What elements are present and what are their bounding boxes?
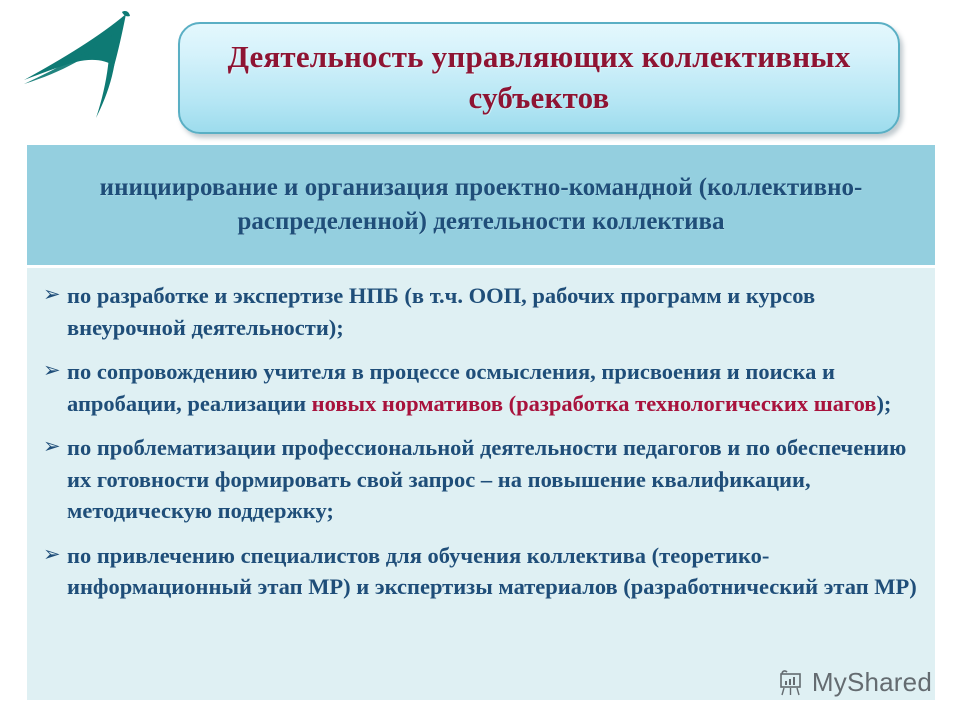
- bullet-text: );: [876, 391, 891, 416]
- slide-body-panel: ➢по разработке и экспертизе НПБ (в т.ч. …: [27, 268, 935, 700]
- teal-swoosh-icon: [22, 8, 177, 128]
- bullet-text: по проблематизации профессиональной деят…: [67, 435, 906, 523]
- bullet-arrow-icon: ➢: [43, 540, 61, 569]
- bullet-arrow-icon: ➢: [43, 280, 61, 309]
- bullet-item: ➢по разработке и экспертизе НПБ (в т.ч. …: [41, 280, 921, 343]
- myshared-watermark: MyShared: [778, 667, 932, 698]
- bullet-item: ➢по привлечению специалистов для обучени…: [41, 540, 921, 603]
- myshared-label: MyShared: [812, 667, 932, 698]
- slide-title-box: Деятельность управляющих коллективных су…: [178, 22, 900, 134]
- organization-logo: [22, 8, 177, 128]
- bullet-item: ➢по проблематизации профессиональной дея…: [41, 432, 921, 527]
- presentation-slide: Деятельность управляющих коллективных су…: [0, 0, 960, 720]
- bullet-text: по разработке и экспертизе НПБ (в т.ч. О…: [67, 283, 815, 340]
- slide-subtitle-band: инициирование и организация проектно-ком…: [27, 145, 935, 265]
- bullet-item: ➢по сопровождению учителя в процессе осм…: [41, 356, 921, 419]
- bullet-arrow-icon: ➢: [43, 432, 61, 461]
- slide-title: Деятельность управляющих коллективных су…: [180, 37, 898, 119]
- slide-subtitle: инициирование и организация проектно-ком…: [27, 171, 935, 239]
- bullet-list: ➢по разработке и экспертизе НПБ (в т.ч. …: [41, 280, 921, 603]
- bullet-text: по привлечению специалистов для обучения…: [67, 543, 917, 600]
- bullet-text-highlight: новых нормативов (разработка технологиче…: [312, 391, 877, 416]
- bullet-arrow-icon: ➢: [43, 356, 61, 385]
- presentation-board-icon: [778, 669, 804, 697]
